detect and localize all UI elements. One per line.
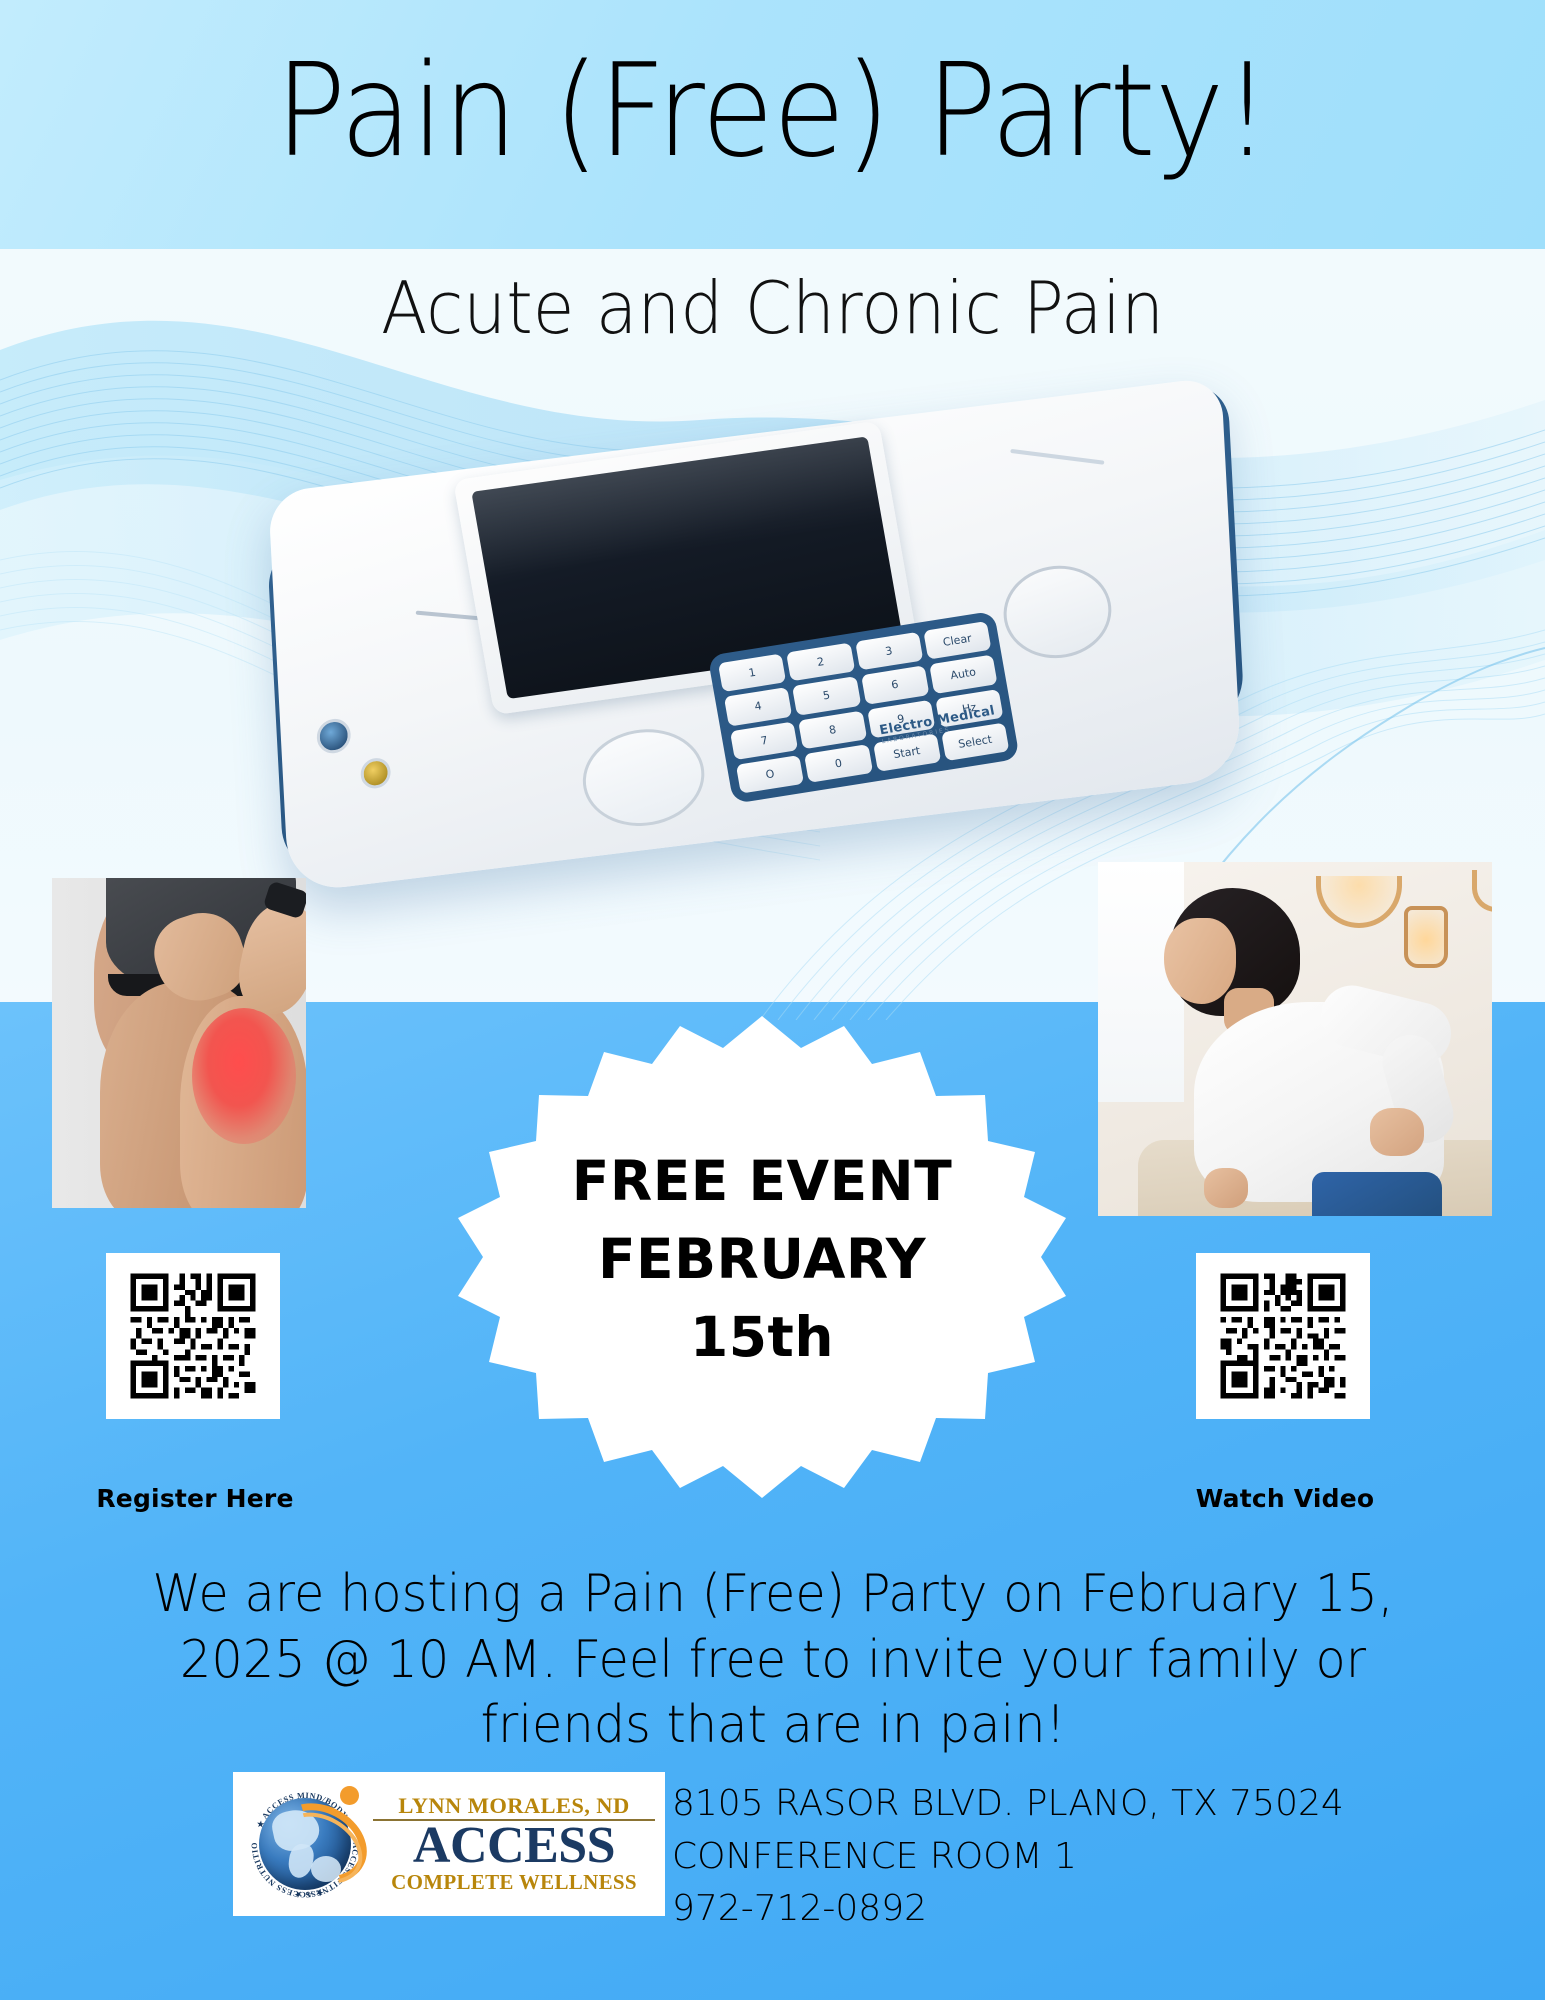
- watch-video-qr-icon[interactable]: [1215, 1268, 1351, 1404]
- knee-pain-highlight: [192, 1008, 296, 1144]
- device-key: 8: [798, 710, 867, 749]
- register-qr-label: Register Here: [20, 1484, 370, 1513]
- watch-video-qr-card[interactable]: [1196, 1253, 1370, 1419]
- device-key: Clear: [923, 621, 992, 660]
- woman-hand-on-back: [1370, 1108, 1424, 1156]
- badge-line-2: FEBRUARY: [452, 1220, 1072, 1298]
- device-key: O: [736, 755, 805, 794]
- logo-wordmark: LYNN MORALES, ND ACCESS COMPLETE WELLNES…: [367, 1794, 655, 1894]
- wall-sconce-icon: [1404, 906, 1448, 968]
- badge-line-1: FREE EVENT: [452, 1142, 1072, 1220]
- register-qr-icon[interactable]: [125, 1268, 261, 1404]
- back-pain-photo: [1098, 862, 1492, 1216]
- device-key: 6: [861, 666, 930, 705]
- swoosh-head-dot: [340, 1786, 359, 1805]
- device-key: 7: [730, 721, 799, 760]
- device-key: 5: [792, 676, 861, 715]
- page-title: Pain (Free) Party!: [62, 48, 1483, 176]
- flyer-page: Pain (Free) Party! Acute and Chronic Pai…: [0, 0, 1545, 2000]
- badge-line-3: 15th: [452, 1298, 1072, 1376]
- event-description: We are hosting a Pain (Free) Party on Fe…: [94, 1562, 1453, 1759]
- badge-text-block: FREE EVENT FEBRUARY 15th: [452, 1142, 1072, 1376]
- device-key: 0: [804, 744, 873, 783]
- device-key: 1: [718, 653, 787, 692]
- footer-contact-block: 8105 RASOR BLVD. PLANO, TX 75024 CONFERE…: [672, 1778, 1432, 1936]
- logo-practitioner-name: LYNN MORALES, ND: [373, 1794, 655, 1818]
- device-key: 3: [855, 632, 924, 671]
- footer-room: CONFERENCE ROOM 1: [672, 1831, 1432, 1884]
- page-subtitle: Acute and Chronic Pain: [46, 272, 1498, 344]
- footer-phone: 972-712-0892: [672, 1883, 1432, 1936]
- free-event-badge: FREE EVENT FEBRUARY 15th: [452, 1010, 1072, 1500]
- device-key: Auto: [929, 655, 998, 694]
- hero-device-image: 1 2 3 Clear 4 5 6 Auto 7 8 9 Hz O 0 Star…: [235, 395, 1295, 915]
- register-qr-card[interactable]: [106, 1253, 280, 1419]
- footer-address: 8105 RASOR BLVD. PLANO, TX 75024: [672, 1778, 1432, 1831]
- knee-pain-photo: [52, 878, 306, 1208]
- woman-supporting-hand: [1204, 1168, 1248, 1208]
- access-complete-wellness-logo: ★ ACCESS MIND/BODY ★ ACCESS FITNESS ★ ★ …: [233, 1772, 665, 1916]
- device-key: 2: [786, 643, 855, 682]
- woman-jeans: [1312, 1172, 1442, 1216]
- watch-video-qr-label: Watch Video: [1110, 1484, 1460, 1513]
- woman-face: [1164, 918, 1236, 1004]
- device-key: 4: [724, 687, 793, 726]
- logo-brand-name: ACCESS: [373, 1821, 655, 1871]
- globe-logo-icon: ★ ACCESS MIND/BODY ★ ACCESS FITNESS ★ ★ …: [243, 1782, 367, 1906]
- logo-tagline: COMPLETE WELLNESS: [373, 1871, 655, 1894]
